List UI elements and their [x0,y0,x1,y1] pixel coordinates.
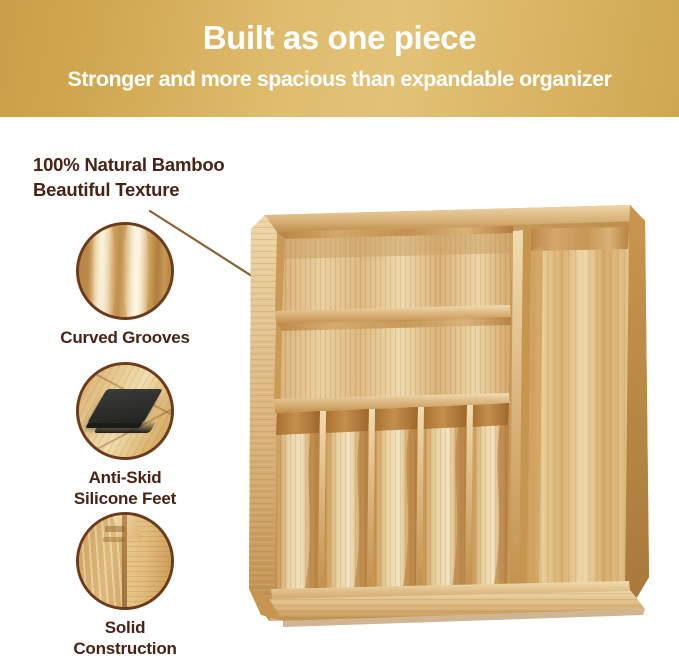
feature-label-solid-construction: Solid Construction [5,617,245,659]
groove-highlight-2 [122,222,150,320]
feature-solid-construction: Solid Construction [5,512,245,659]
cutlery-slot-group [275,403,509,591]
callout-line-2: Beautiful Texture [33,177,225,202]
cutlery-slot-back-wall [276,411,320,435]
organizer-body [249,205,649,627]
feature-label-line-1: Solid [5,617,245,638]
middle-wide-compartment-texture [280,319,511,405]
product-image-bamboo-organizer [225,185,679,646]
cutlery-slot-back-wall [325,409,369,433]
cutlery-slot-back-wall [374,407,418,431]
bamboo-corner-texture [79,515,171,607]
feature-anti-skid-silicone-feet: Anti-Skid Silicone Feet [5,362,245,509]
callout-natural-bamboo: 100% Natural Bamboo Beautiful Texture [33,152,225,202]
feature-label-anti-skid: Anti-Skid Silicone Feet [5,467,245,509]
silicone-foot-pad-icon [76,362,174,460]
silicone-pad-side [94,421,157,433]
feature-curved-grooves: Curved Grooves [5,222,245,348]
groove-shadow-right [151,222,166,320]
feature-label-line-2: Silicone Feet [5,488,245,509]
feature-label-line-2: Construction [5,638,245,659]
page-title: Built as one piece [0,19,679,57]
callout-line-1: 100% Natural Bamboo [33,152,225,177]
corner-notch-lower [103,537,125,542]
right-compartment-back-wall [531,227,629,251]
left-outer-wall-shade [249,215,277,621]
bamboo-base-texture [79,365,171,457]
page-subtitle: Stronger and more spacious than expandab… [0,66,679,92]
feature-label-curved-grooves: Curved Grooves [5,327,245,348]
grooves-texture [79,225,171,317]
groove-highlight-1 [92,222,116,320]
header-banner: Built as one piece Stronger and more spa… [0,0,679,117]
bamboo-curved-grooves-icon [76,222,174,320]
cutlery-slot-back-wall [472,403,509,427]
corner-notch-upper [105,526,125,532]
cutlery-slot-back-wall [423,405,467,429]
bamboo-corner-joint-icon [76,512,174,610]
feature-label-line-1: Anti-Skid [5,467,245,488]
right-outer-wall [625,205,649,609]
feature-label-line-1: Curved Grooves [5,327,245,348]
